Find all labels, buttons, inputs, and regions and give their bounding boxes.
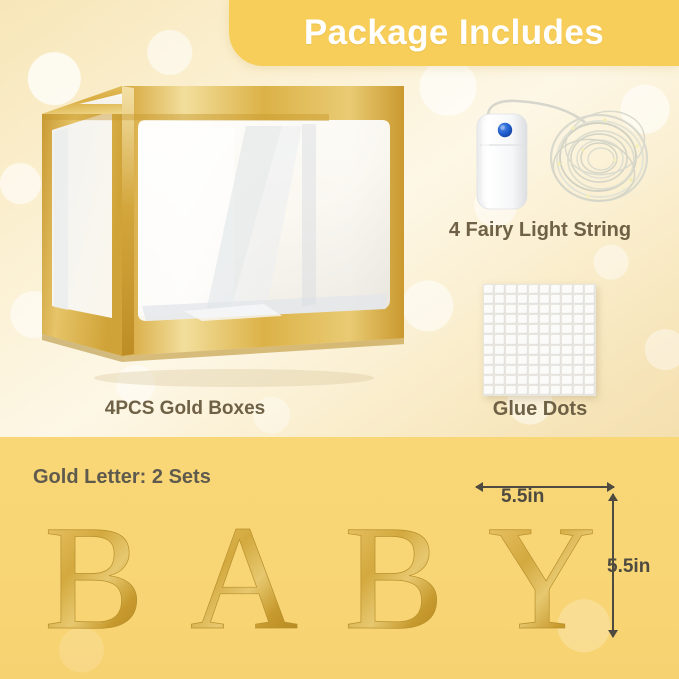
fairy-light-caption: 4 Fairy Light String	[408, 219, 672, 242]
glue-dot	[551, 335, 561, 344]
glue-dot	[495, 366, 505, 375]
glue-dot	[562, 295, 572, 304]
glue-dot	[506, 305, 516, 314]
glue-dot	[506, 346, 516, 355]
glue-dot	[551, 346, 561, 355]
glue-dot	[574, 285, 584, 294]
glue-dot	[574, 305, 584, 314]
glue-dot	[540, 356, 550, 365]
glue-dot	[518, 295, 528, 304]
glue-dot	[585, 335, 595, 344]
glue-dot	[495, 356, 505, 365]
glue-dots-grid	[483, 284, 596, 396]
glue-dot	[551, 325, 561, 334]
glue-dot	[562, 366, 572, 375]
dimension-width-label: 5.5in	[501, 486, 544, 508]
gold-box-svg	[34, 78, 404, 398]
glue-dot	[540, 386, 550, 395]
glue-dot	[551, 295, 561, 304]
glue-dot	[551, 356, 561, 365]
glue-dot	[585, 315, 595, 324]
glue-dot	[551, 305, 561, 314]
glue-dot	[562, 376, 572, 385]
glue-dot	[518, 386, 528, 395]
glue-dot	[484, 295, 494, 304]
glue-dot	[518, 335, 528, 344]
glue-dot	[506, 376, 516, 385]
glue-dot	[562, 285, 572, 294]
glue-dot	[484, 376, 494, 385]
glue-dot	[518, 325, 528, 334]
power-button-icon	[498, 123, 512, 137]
glue-dot	[551, 376, 561, 385]
glue-dot	[574, 386, 584, 395]
glue-dot	[574, 315, 584, 324]
glue-dot	[585, 376, 595, 385]
glue-dot	[529, 346, 539, 355]
glue-dot	[484, 386, 494, 395]
glue-dot	[495, 315, 505, 324]
glue-dot	[506, 386, 516, 395]
glue-dot	[506, 366, 516, 375]
glue-dot	[484, 335, 494, 344]
glue-dot	[540, 366, 550, 375]
glue-dot	[562, 346, 572, 355]
glue-dot	[540, 305, 550, 314]
product-infographic: Package Includes	[0, 0, 679, 679]
glue-dot	[529, 325, 539, 334]
dimension-annotations	[0, 437, 679, 679]
glue-dot	[562, 325, 572, 334]
glue-dot	[585, 386, 595, 395]
glue-dot	[506, 285, 516, 294]
glue-dot	[529, 335, 539, 344]
glue-dot	[495, 305, 505, 314]
glue-dot	[562, 305, 572, 314]
glue-dot	[540, 295, 550, 304]
fairy-light-illustration	[455, 98, 665, 218]
glue-dot	[551, 386, 561, 395]
glue-dots-illustration	[483, 284, 596, 396]
glue-dot	[495, 376, 505, 385]
glue-dot	[551, 366, 561, 375]
gold-box-illustration	[34, 78, 404, 398]
glue-dot	[540, 325, 550, 334]
glue-dot	[562, 335, 572, 344]
glue-dot	[540, 346, 550, 355]
glue-dot	[585, 346, 595, 355]
glue-dot	[529, 285, 539, 294]
glue-dot	[540, 335, 550, 344]
glue-dot	[495, 325, 505, 334]
glue-dot	[585, 305, 595, 314]
glue-dot	[540, 285, 550, 294]
glue-dots-caption: Glue Dots	[450, 398, 630, 421]
glue-dot	[529, 366, 539, 375]
glue-dot	[495, 346, 505, 355]
glue-dot	[484, 366, 494, 375]
glue-dot	[551, 315, 561, 324]
glue-dot	[574, 346, 584, 355]
glue-dot	[585, 366, 595, 375]
glue-dot	[562, 315, 572, 324]
glue-dot	[506, 356, 516, 365]
glue-dot	[518, 346, 528, 355]
glue-dot	[574, 335, 584, 344]
page-title: Package Includes	[304, 13, 604, 53]
glue-dot	[562, 386, 572, 395]
glue-dot	[562, 356, 572, 365]
glue-dot	[574, 366, 584, 375]
gold-boxes-caption: 4PCS Gold Boxes	[20, 398, 350, 420]
glue-dot	[518, 315, 528, 324]
dimension-width	[475, 482, 615, 492]
glue-dot	[529, 356, 539, 365]
glue-dot	[484, 305, 494, 314]
glue-dot	[529, 386, 539, 395]
glue-dot	[506, 295, 516, 304]
glue-dot	[506, 335, 516, 344]
glue-dot	[551, 285, 561, 294]
glue-dot	[585, 285, 595, 294]
glue-dot	[574, 325, 584, 334]
glue-dot	[484, 325, 494, 334]
glue-dot	[484, 356, 494, 365]
glue-dot	[506, 325, 516, 334]
glue-dot	[585, 356, 595, 365]
glue-dot	[518, 305, 528, 314]
glue-dot	[484, 315, 494, 324]
dimension-height-label: 5.5in	[607, 556, 650, 578]
glue-dot	[574, 376, 584, 385]
glue-dot	[574, 356, 584, 365]
glue-dot	[506, 315, 516, 324]
glue-dot	[518, 366, 528, 375]
glue-dot	[585, 295, 595, 304]
header-banner: Package Includes	[229, 0, 679, 66]
glue-dot	[574, 295, 584, 304]
glue-dot	[518, 356, 528, 365]
glue-dot	[529, 295, 539, 304]
glue-dot	[540, 376, 550, 385]
glue-dot	[529, 315, 539, 324]
glue-dot	[529, 305, 539, 314]
glue-dot	[518, 376, 528, 385]
glue-dot	[484, 285, 494, 294]
glue-dot	[540, 315, 550, 324]
glue-dot	[585, 325, 595, 334]
glue-dot	[495, 295, 505, 304]
glue-dot	[484, 346, 494, 355]
glue-dot	[529, 376, 539, 385]
glue-dot	[495, 285, 505, 294]
fairy-light-svg	[455, 98, 665, 218]
glue-dot	[495, 386, 505, 395]
glue-dot	[495, 335, 505, 344]
wire-coil	[548, 103, 652, 208]
glue-dot	[518, 285, 528, 294]
